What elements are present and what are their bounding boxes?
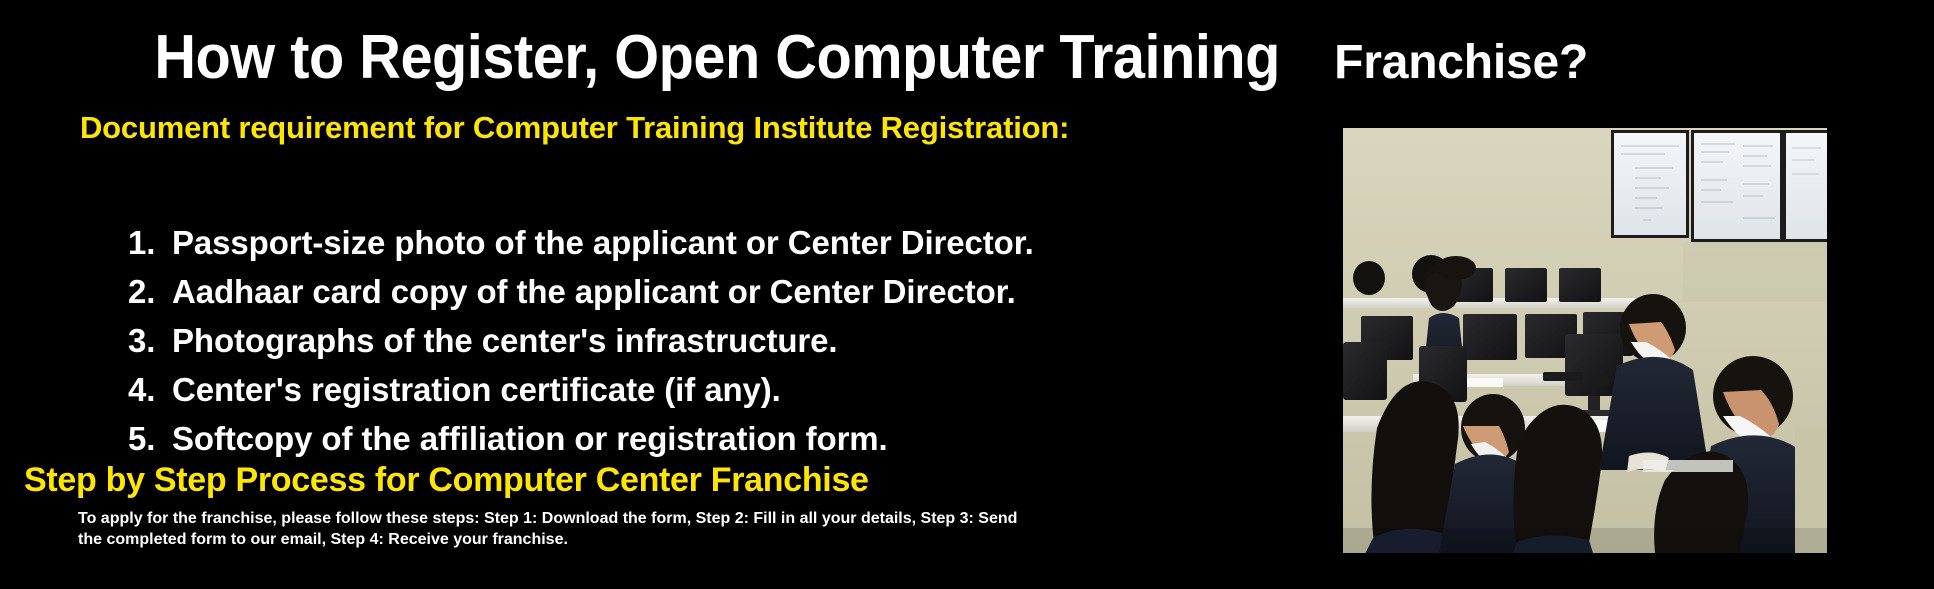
computer-lab-classroom-photo — [1343, 128, 1827, 553]
classroom-illustration — [1343, 128, 1827, 553]
list-item-label: Softcopy of the affiliation or registrat… — [172, 420, 888, 457]
list-item: 5.Softcopy of the affiliation or registr… — [128, 414, 1034, 463]
step-process-heading: Step by Step Process for Computer Center… — [24, 461, 869, 500]
list-item: 1.Passport-size photo of the applicant o… — [128, 218, 1034, 267]
document-requirement-heading: Document requirement for Computer Traini… — [80, 110, 1069, 146]
step-process-paragraph: To apply for the franchise, please follo… — [78, 508, 1038, 550]
list-item-number: 1. — [128, 218, 172, 267]
list-item-number: 4. — [128, 365, 172, 414]
list-item-label: Center's registration certificate (if an… — [172, 371, 781, 408]
list-item: 2.Aadhaar card copy of the applicant or … — [128, 267, 1034, 316]
list-item-number: 3. — [128, 316, 172, 365]
document-requirement-list: 1.Passport-size photo of the applicant o… — [128, 218, 1034, 463]
slide-canvas: How to Register, Open Computer TrainingF… — [0, 0, 1934, 589]
list-item-number: 5. — [128, 414, 172, 463]
list-item-number: 2. — [128, 267, 172, 316]
list-item-label: Photographs of the center's infrastructu… — [172, 322, 837, 359]
list-item-label: Passport-size photo of the applicant or … — [172, 224, 1034, 261]
list-item-label: Aadhaar card copy of the applicant or Ce… — [172, 273, 1016, 310]
page-title-main: How to Register, Open Computer Training — [154, 22, 1280, 93]
page-title-suffix: Franchise? — [1334, 35, 1588, 90]
list-item: 3.Photographs of the center's infrastruc… — [128, 316, 1034, 365]
list-item: 4.Center's registration certificate (if … — [128, 365, 1034, 414]
page-title: How to Register, Open Computer TrainingF… — [0, 22, 1700, 93]
